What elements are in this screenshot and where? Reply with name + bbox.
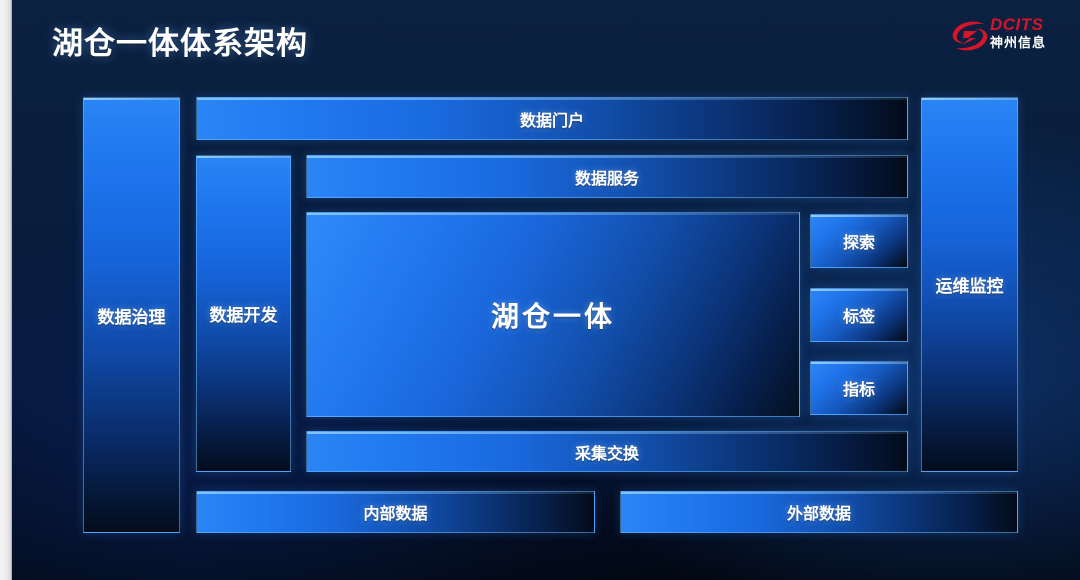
block-label: 标签 [843, 303, 875, 327]
block-data-development[interactable]: 数据开发 [196, 155, 291, 472]
block-internal-data[interactable]: 内部数据 [196, 491, 595, 533]
block-metric[interactable]: 指标 [810, 361, 908, 415]
block-collection-exchange[interactable]: 采集交换 [306, 431, 908, 472]
block-data-service[interactable]: 数据服务 [306, 155, 908, 198]
page-left-edge [0, 0, 12, 580]
block-label: 湖仓一体 [491, 295, 615, 335]
block-label: 外部数据 [787, 500, 851, 524]
block-label: 数据服务 [575, 165, 639, 189]
logo-cn-label: 神州信息 [990, 35, 1062, 51]
dcits-swoosh-icon [950, 18, 990, 54]
block-label: 内部数据 [363, 500, 427, 524]
logo-en-label: DCITS [990, 16, 1062, 34]
dcits-logo: DCITS 神州信息 [950, 14, 1062, 60]
block-label: 数据治理 [98, 303, 166, 328]
block-ops-monitoring[interactable]: 运维监控 [921, 97, 1018, 472]
dcits-logo-text: DCITS 神州信息 [990, 16, 1062, 51]
block-label: 运维监控 [936, 272, 1004, 297]
slide-header: 湖仓一体体系架构 DCITS 神州信息 [0, 0, 1080, 78]
block-external-data[interactable]: 外部数据 [620, 491, 1018, 533]
block-explore[interactable]: 探索 [810, 214, 908, 268]
block-data-governance[interactable]: 数据治理 [83, 97, 180, 533]
block-label: 探索 [843, 229, 875, 253]
page-title: 湖仓一体体系架构 [52, 18, 308, 63]
block-label: 采集交换 [575, 440, 639, 464]
block-label: 数据开发 [210, 301, 278, 326]
slide-canvas: 湖仓一体体系架构 DCITS 神州信息 数据治理 数据开发 数据门户 数据服务 … [0, 0, 1080, 580]
block-data-portal[interactable]: 数据门户 [196, 97, 908, 140]
block-label: 指标 [843, 376, 875, 400]
block-lakehouse-core[interactable]: 湖仓一体 [306, 212, 800, 417]
block-label: 数据门户 [520, 107, 584, 131]
block-tag[interactable]: 标签 [810, 288, 908, 342]
